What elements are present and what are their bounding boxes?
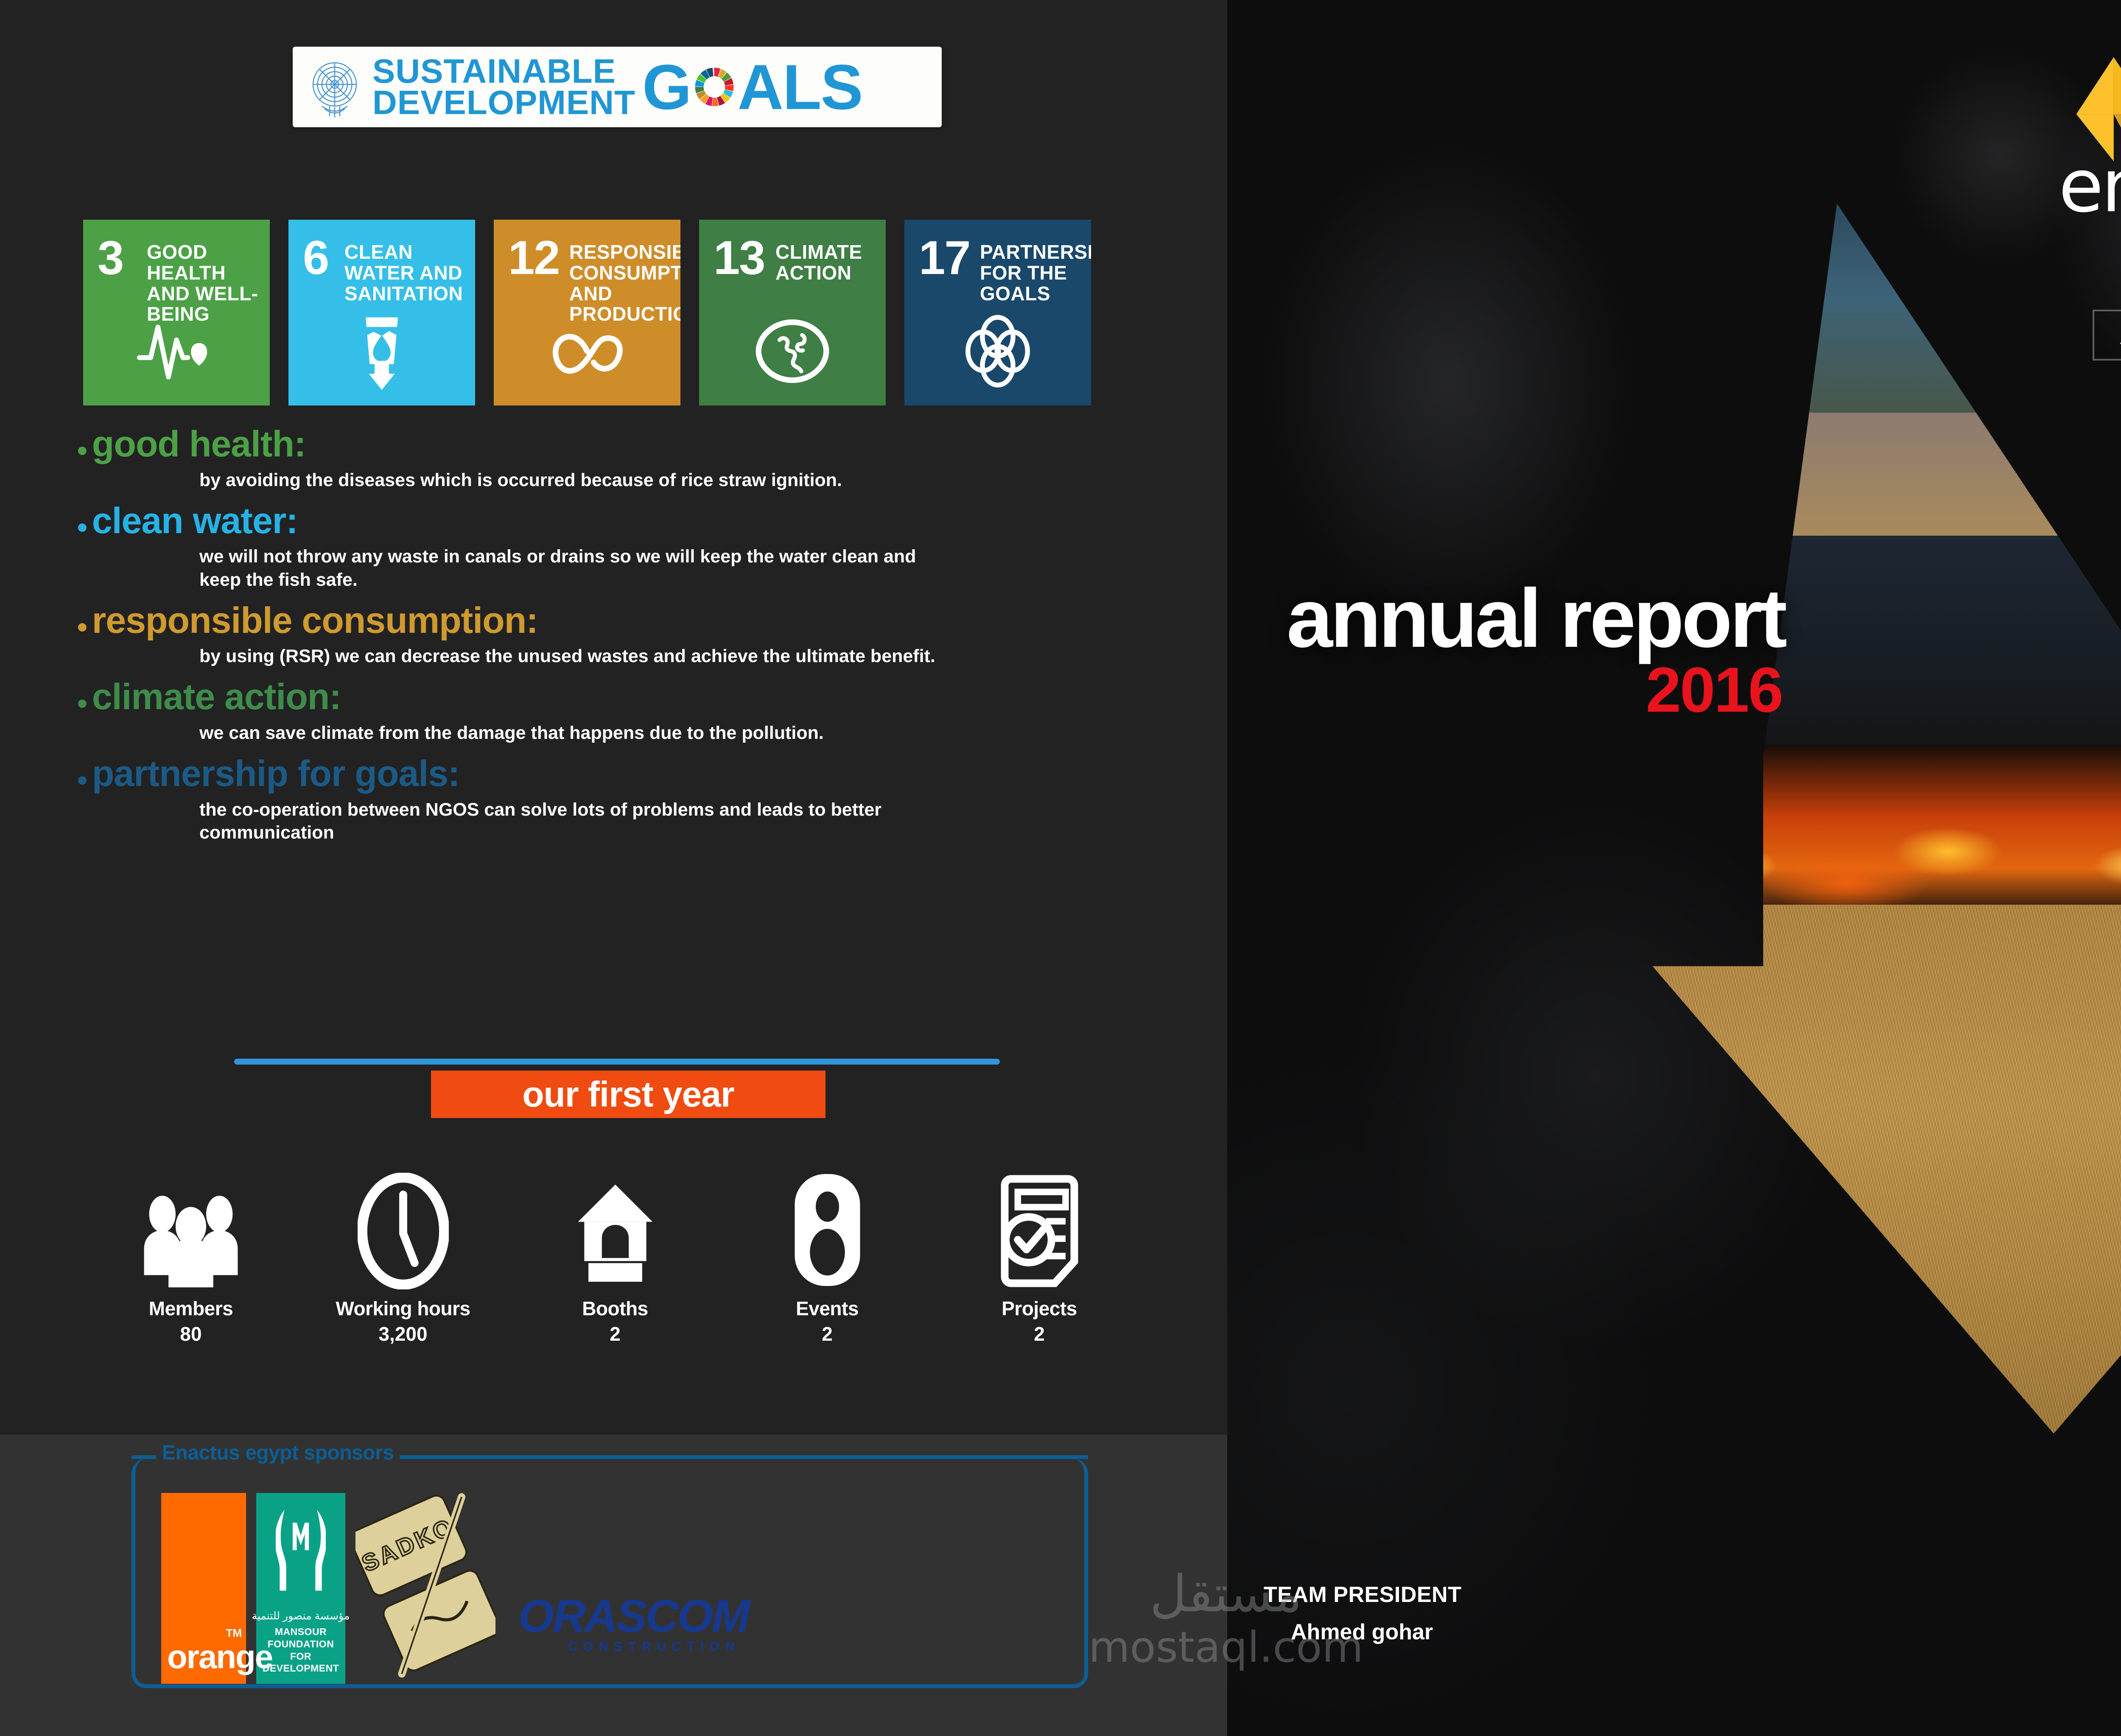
- report-title: annual report: [1287, 570, 1785, 666]
- first-year-banner: our first year: [431, 1071, 825, 1118]
- booth-icon: [574, 1162, 657, 1289]
- sdg-goals-g: G: [642, 50, 691, 124]
- sdg-card-number: 17: [919, 238, 970, 278]
- enactus-logo: enactusTM MIE: [2059, 55, 2121, 271]
- sdg-card-title: CLIMATE ACTION: [775, 242, 877, 283]
- checklist-icon: [996, 1162, 1083, 1289]
- sdg-card-6: 6 CLEAN WATER AND SANITATION: [288, 220, 475, 405]
- goal-item-climate-action: ● climate action: we can save climate fr…: [76, 677, 1162, 744]
- stat-booths: Booths 2: [509, 1162, 721, 1345]
- people-group-icon: [138, 1162, 244, 1289]
- infinity-icon: [547, 309, 627, 394]
- goal-description: we can save climate from the damage that…: [199, 721, 1069, 744]
- stat-members: Members 80: [85, 1162, 297, 1345]
- annual-report-cover-spread: SUSTAINABLE DEVELOPMENT G: [0, 0, 2121, 1736]
- sdg-masthead-logo: SUSTAINABLE DEVELOPMENT G: [293, 47, 942, 127]
- stat-value: 80: [180, 1322, 201, 1345]
- stat-label: Projects: [1002, 1297, 1077, 1320]
- bullet-dot-icon: ●: [76, 440, 88, 459]
- orascom-wordmark: ORASCOM: [518, 1595, 749, 1636]
- sdg-goals-als: ALS: [738, 50, 862, 124]
- left-panel: SUSTAINABLE DEVELOPMENT G: [0, 0, 1227, 1736]
- president-role: TEAM PRESIDENT: [1264, 1582, 1461, 1607]
- stat-value: 3,200: [378, 1322, 427, 1345]
- sdg-card-12: 12 RESPONSIBLE CONSUMPTION AND PRODUCTIO…: [494, 220, 680, 405]
- sdg-card-number: 12: [508, 238, 560, 278]
- sdg-goals-word: G: [642, 50, 862, 124]
- goal-heading: responsible consumption:: [92, 601, 538, 641]
- goal-description: we will not throw any waste in canals or…: [199, 545, 946, 591]
- sdg-card-title: PARTNERSHIPS FOR THE GOALS: [980, 242, 1087, 304]
- sdg-card-number: 6: [303, 238, 328, 278]
- clock-icon: [358, 1162, 449, 1289]
- stat-label: Working hours: [336, 1297, 470, 1320]
- sponsor-logo-sadko: SADKO: [355, 1484, 495, 1684]
- sdg-card-17: 17 PARTNERSHIPS FOR THE GOALS: [904, 220, 1091, 405]
- hands-m-icon: [276, 1505, 326, 1594]
- sdg-card-13: 13 CLIMATE ACTION: [699, 220, 886, 405]
- stat-label: Booths: [582, 1297, 648, 1320]
- stat-label: Members: [149, 1297, 233, 1320]
- team-president-block: TEAM PRESIDENT Ahmed gohar: [1264, 1582, 1461, 1645]
- tagline-box: Believe to achieve: [2093, 310, 2121, 361]
- enactus-chapter-label: MIE: [2059, 224, 2121, 271]
- sdg-card-number: 3: [98, 238, 123, 278]
- stat-projects: Projects 2: [933, 1162, 1145, 1345]
- goal-list: ● good health: by avoiding the diseases …: [76, 424, 1162, 853]
- first-year-banner-label: our first year: [522, 1074, 734, 1115]
- stat-events: Events 2: [721, 1162, 933, 1345]
- stat-value: 2: [1034, 1322, 1045, 1345]
- stat-working-hours: Working hours 3,200: [297, 1162, 509, 1345]
- sdg-card-number: 13: [714, 238, 765, 278]
- bullet-dot-icon: ●: [76, 517, 88, 536]
- sdg-card-3: 3 GOOD HEALTH AND WELL-BEING: [83, 220, 270, 405]
- goal-description: the co-operation between NGOS can solve …: [199, 798, 997, 844]
- enactus-word-text: enactus: [2059, 143, 2121, 229]
- report-title-block: annual report 2016: [1287, 570, 1785, 727]
- goal-heading: clean water:: [92, 501, 298, 541]
- sdg-word-line1: SUSTAINABLE: [372, 56, 635, 87]
- sponsor-logo-orascom: ORASCOM CONSTRUCTION: [518, 1595, 749, 1654]
- team-president: TEAM PRESIDENT Ahmed gohar: [1264, 1582, 1461, 1645]
- stat-label: Events: [796, 1297, 859, 1320]
- goal-item-good-health: ● good health: by avoiding the diseases …: [76, 424, 1162, 492]
- sponsor-logo-row: orange TM مؤسسة منصور للتنمية MANSOUR FO…: [161, 1484, 749, 1684]
- orange-tm: TM: [226, 1627, 242, 1640]
- orange-wordmark: orange: [161, 1638, 272, 1684]
- bullet-dot-icon: ●: [76, 693, 88, 712]
- sdg-colour-wheel-icon: [689, 62, 739, 112]
- right-panel-cover: enactusTM MIE Believe to achieve annual …: [1227, 0, 2121, 1736]
- goal-description: by using (RSR) we can decrease the unuse…: [199, 645, 971, 668]
- sdg-wordmark: SUSTAINABLE DEVELOPMENT: [372, 56, 635, 118]
- sponsor-logo-orange: orange TM: [161, 1493, 246, 1684]
- sponsor-section-title: Enactus egypt sponsors: [156, 1441, 400, 1465]
- speaker-icon: [792, 1162, 862, 1289]
- bullet-dot-icon: ●: [76, 616, 88, 636]
- sadko-diamond-icon: SADKO: [355, 1484, 495, 1684]
- goal-description: by avoiding the diseases which is occurr…: [199, 469, 1069, 492]
- goal-heading: good health:: [92, 424, 306, 464]
- goal-item-responsible-consumption: ● responsible consumption: by using (RSR…: [76, 601, 1162, 668]
- water-glass-arrow-icon: [341, 309, 422, 394]
- globe-eye-icon: [752, 309, 833, 394]
- goal-item-clean-water: ● clean water: we will not throw any was…: [76, 501, 1162, 591]
- stat-value: 2: [610, 1322, 621, 1345]
- goal-item-partnership-for-goals: ● partnership for goals: the co-operatio…: [76, 754, 1162, 844]
- interlocking-circles-icon: [957, 309, 1038, 394]
- mansour-arabic-name: مؤسسة منصور للتنمية: [252, 1610, 350, 1622]
- bullet-dot-icon: ●: [76, 769, 88, 789]
- stats-row: Members 80 Working hours 3,200: [85, 1162, 1171, 1345]
- president-name: Ahmed gohar: [1264, 1619, 1461, 1645]
- un-emblem-icon: [303, 55, 367, 119]
- sdg-word-line2: DEVELOPMENT: [372, 87, 635, 118]
- sdg-card-row: 3 GOOD HEALTH AND WELL-BEING 6 CLEAN WAT…: [83, 220, 1091, 405]
- stat-value: 2: [822, 1322, 833, 1345]
- sdg-card-title: CLEAN WATER AND SANITATION: [344, 242, 467, 304]
- heartbeat-icon: [136, 309, 217, 394]
- goal-heading: partnership for goals:: [92, 754, 460, 794]
- goal-heading: climate action:: [92, 677, 341, 717]
- enactus-wordmark: enactusTM: [2059, 143, 2121, 229]
- section-divider: [234, 1059, 1000, 1065]
